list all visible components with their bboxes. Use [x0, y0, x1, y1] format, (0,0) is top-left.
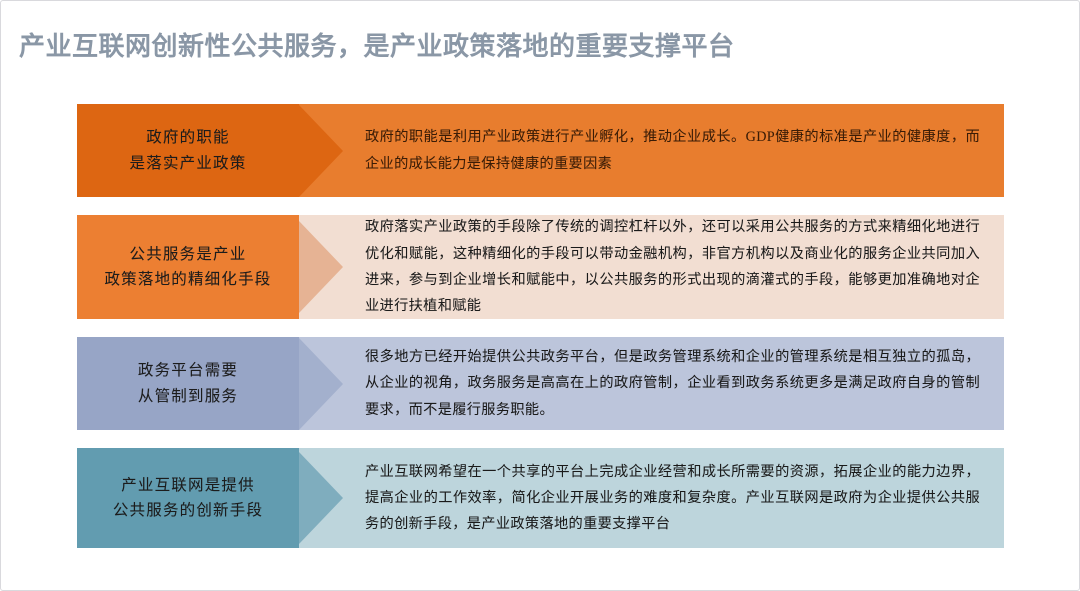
row-2-label-box: 公共服务是产业 政策落地的精细化手段	[77, 215, 299, 319]
row-3-label-box: 政务平台需要 从管制到服务	[77, 337, 299, 430]
row-1-description: 政府的职能是利用产业政策进行产业孵化，推动企业成长。GDP健康的标准是产业的健康…	[365, 124, 980, 177]
slide-canvas: 产业互联网创新性公共服务，是产业政策落地的重要支撑平台 政府的职能 是落实产业政…	[0, 0, 1080, 591]
process-row-3: 政务平台需要 从管制到服务 很多地方已经开始提供公共政务平台，但是政务管理系统和…	[77, 337, 1004, 430]
process-row-4: 产业互联网是提供 公共服务的创新手段 产业互联网希望在一个共享的平台上完成企业经…	[77, 448, 1004, 548]
row-2-body: 政府落实产业政策的手段除了传统的调控杠杆以外，还可以采用公共服务的方式来精细化地…	[299, 215, 1004, 319]
row-4-body: 产业互联网希望在一个共享的平台上完成企业经营和成长所需要的资源，拓展企业的能力边…	[299, 448, 1004, 548]
arrow-right-icon	[299, 448, 343, 548]
arrow-right-icon	[299, 215, 343, 319]
arrow-right-icon	[299, 337, 343, 430]
page-title: 产业互联网创新性公共服务，是产业政策落地的重要支撑平台	[19, 21, 1059, 67]
process-row-1: 政府的职能 是落实产业政策 政府的职能是利用产业政策进行产业孵化，推动企业成长。…	[77, 104, 1004, 197]
row-4-description: 产业互联网希望在一个共享的平台上完成企业经营和成长所需要的资源，拓展企业的能力边…	[365, 459, 980, 538]
row-1-label-text: 政府的职能 是落实产业政策	[130, 125, 247, 175]
row-2-label-text: 公共服务是产业 政策落地的精细化手段	[104, 242, 271, 292]
row-2-description: 政府落实产业政策的手段除了传统的调控杠杆以外，还可以采用公共服务的方式来精细化地…	[365, 215, 980, 319]
row-4-label-box: 产业互联网是提供 公共服务的创新手段	[77, 448, 299, 548]
row-1-body: 政府的职能是利用产业政策进行产业孵化，推动企业成长。GDP健康的标准是产业的健康…	[299, 104, 1004, 197]
arrow-right-icon	[299, 104, 343, 197]
process-row-2: 公共服务是产业 政策落地的精细化手段 政府落实产业政策的手段除了传统的调控杠杆以…	[77, 215, 1004, 319]
row-3-label-text: 政务平台需要 从管制到服务	[138, 358, 238, 408]
row-1-label-box: 政府的职能 是落实产业政策	[77, 104, 299, 197]
row-3-description: 很多地方已经开始提供公共政务平台，但是政务管理系统和企业的管理系统是相互独立的孤…	[365, 344, 980, 423]
row-4-label-text: 产业互联网是提供 公共服务的创新手段	[113, 473, 263, 523]
row-3-body: 很多地方已经开始提供公共政务平台，但是政务管理系统和企业的管理系统是相互独立的孤…	[299, 337, 1004, 430]
